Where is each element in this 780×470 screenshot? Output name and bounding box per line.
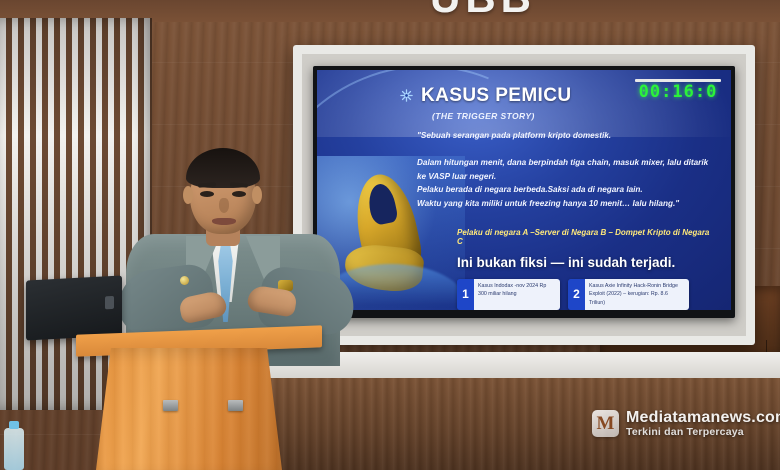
laptop-on-podium <box>26 275 122 340</box>
nose <box>219 198 229 213</box>
case-text: Kasus Indodax -nov 2024 Rp 300 miliar hi… <box>474 279 560 310</box>
slide-punch-line: Ini bukan fiksi — ini sudah terjadi. <box>457 255 717 270</box>
slide-body: Dalam hitungan menit, dana berpindah tig… <box>417 156 717 210</box>
case-item: 1 Kasus Indodax -nov 2024 Rp 300 miliar … <box>457 279 560 310</box>
watermark-tagline: Terkini dan Terpercaya <box>626 427 780 438</box>
body-line: ke VASP luar negeri. <box>417 170 717 184</box>
case-item: 2 Kasus Axie Infinity Hack-Ronin Bridge … <box>568 279 689 310</box>
podium-body <box>96 348 282 470</box>
watermark-text: Mediatamanews.com Terkini dan Terpercaya <box>626 410 780 438</box>
eye-right <box>232 191 246 197</box>
banner-letters: UBB <box>430 0 536 22</box>
watermark-logo-letter: M <box>597 414 615 433</box>
body-line: Dalam hitungan menit, dana berpindah tig… <box>417 156 717 170</box>
slide-title-row: KASUS PEMICU <box>399 86 717 108</box>
watermark: M Mediatamanews.com Terkini dan Terperca… <box>592 410 780 438</box>
press-conference-photo: UBB 00:16:0 <box>0 0 780 470</box>
presentation-slide: 00:16:0 <box>317 70 731 310</box>
lapel-pin <box>180 276 189 285</box>
ear-right <box>252 186 262 204</box>
slide-quote-lead: "Sebuah serangan pada platform kripto do… <box>417 131 717 140</box>
snowflake-icon <box>399 88 414 108</box>
watermark-name: Mediatamanews.com <box>626 410 780 427</box>
slide-title: KASUS PEMICU <box>421 86 571 105</box>
case-number: 2 <box>568 279 585 310</box>
podium-plate <box>228 400 243 411</box>
water-bottle <box>4 428 24 470</box>
presentation-screen-frame: 00:16:0 <box>293 45 755 345</box>
slide-content: KASUS PEMICU (THE TRIGGER STORY) "Sebuah… <box>317 70 731 310</box>
hair <box>186 148 260 188</box>
body-line: Pelaku berada di negara berbeda.Saksi ad… <box>417 183 717 197</box>
slide-chain-line: Pelaku di negara A –Server di Negara B –… <box>457 228 717 246</box>
case-list: 1 Kasus Indodax -nov 2024 Rp 300 miliar … <box>457 279 717 310</box>
podium-plate <box>163 400 178 411</box>
watermark-logo-icon: M <box>592 410 619 437</box>
case-number: 1 <box>457 279 474 310</box>
slide-subtitle: (THE TRIGGER STORY) <box>432 111 717 121</box>
case-text: Kasus Axie Infinity Hack-Ronin Bridge Ex… <box>585 279 689 310</box>
ear-left <box>183 186 193 204</box>
eye-left <box>200 191 214 197</box>
tv-bezel: 00:16:0 <box>313 66 735 318</box>
body-line: Waktu yang kita miliki untuk freezing ha… <box>417 197 717 211</box>
mouth <box>212 218 236 225</box>
